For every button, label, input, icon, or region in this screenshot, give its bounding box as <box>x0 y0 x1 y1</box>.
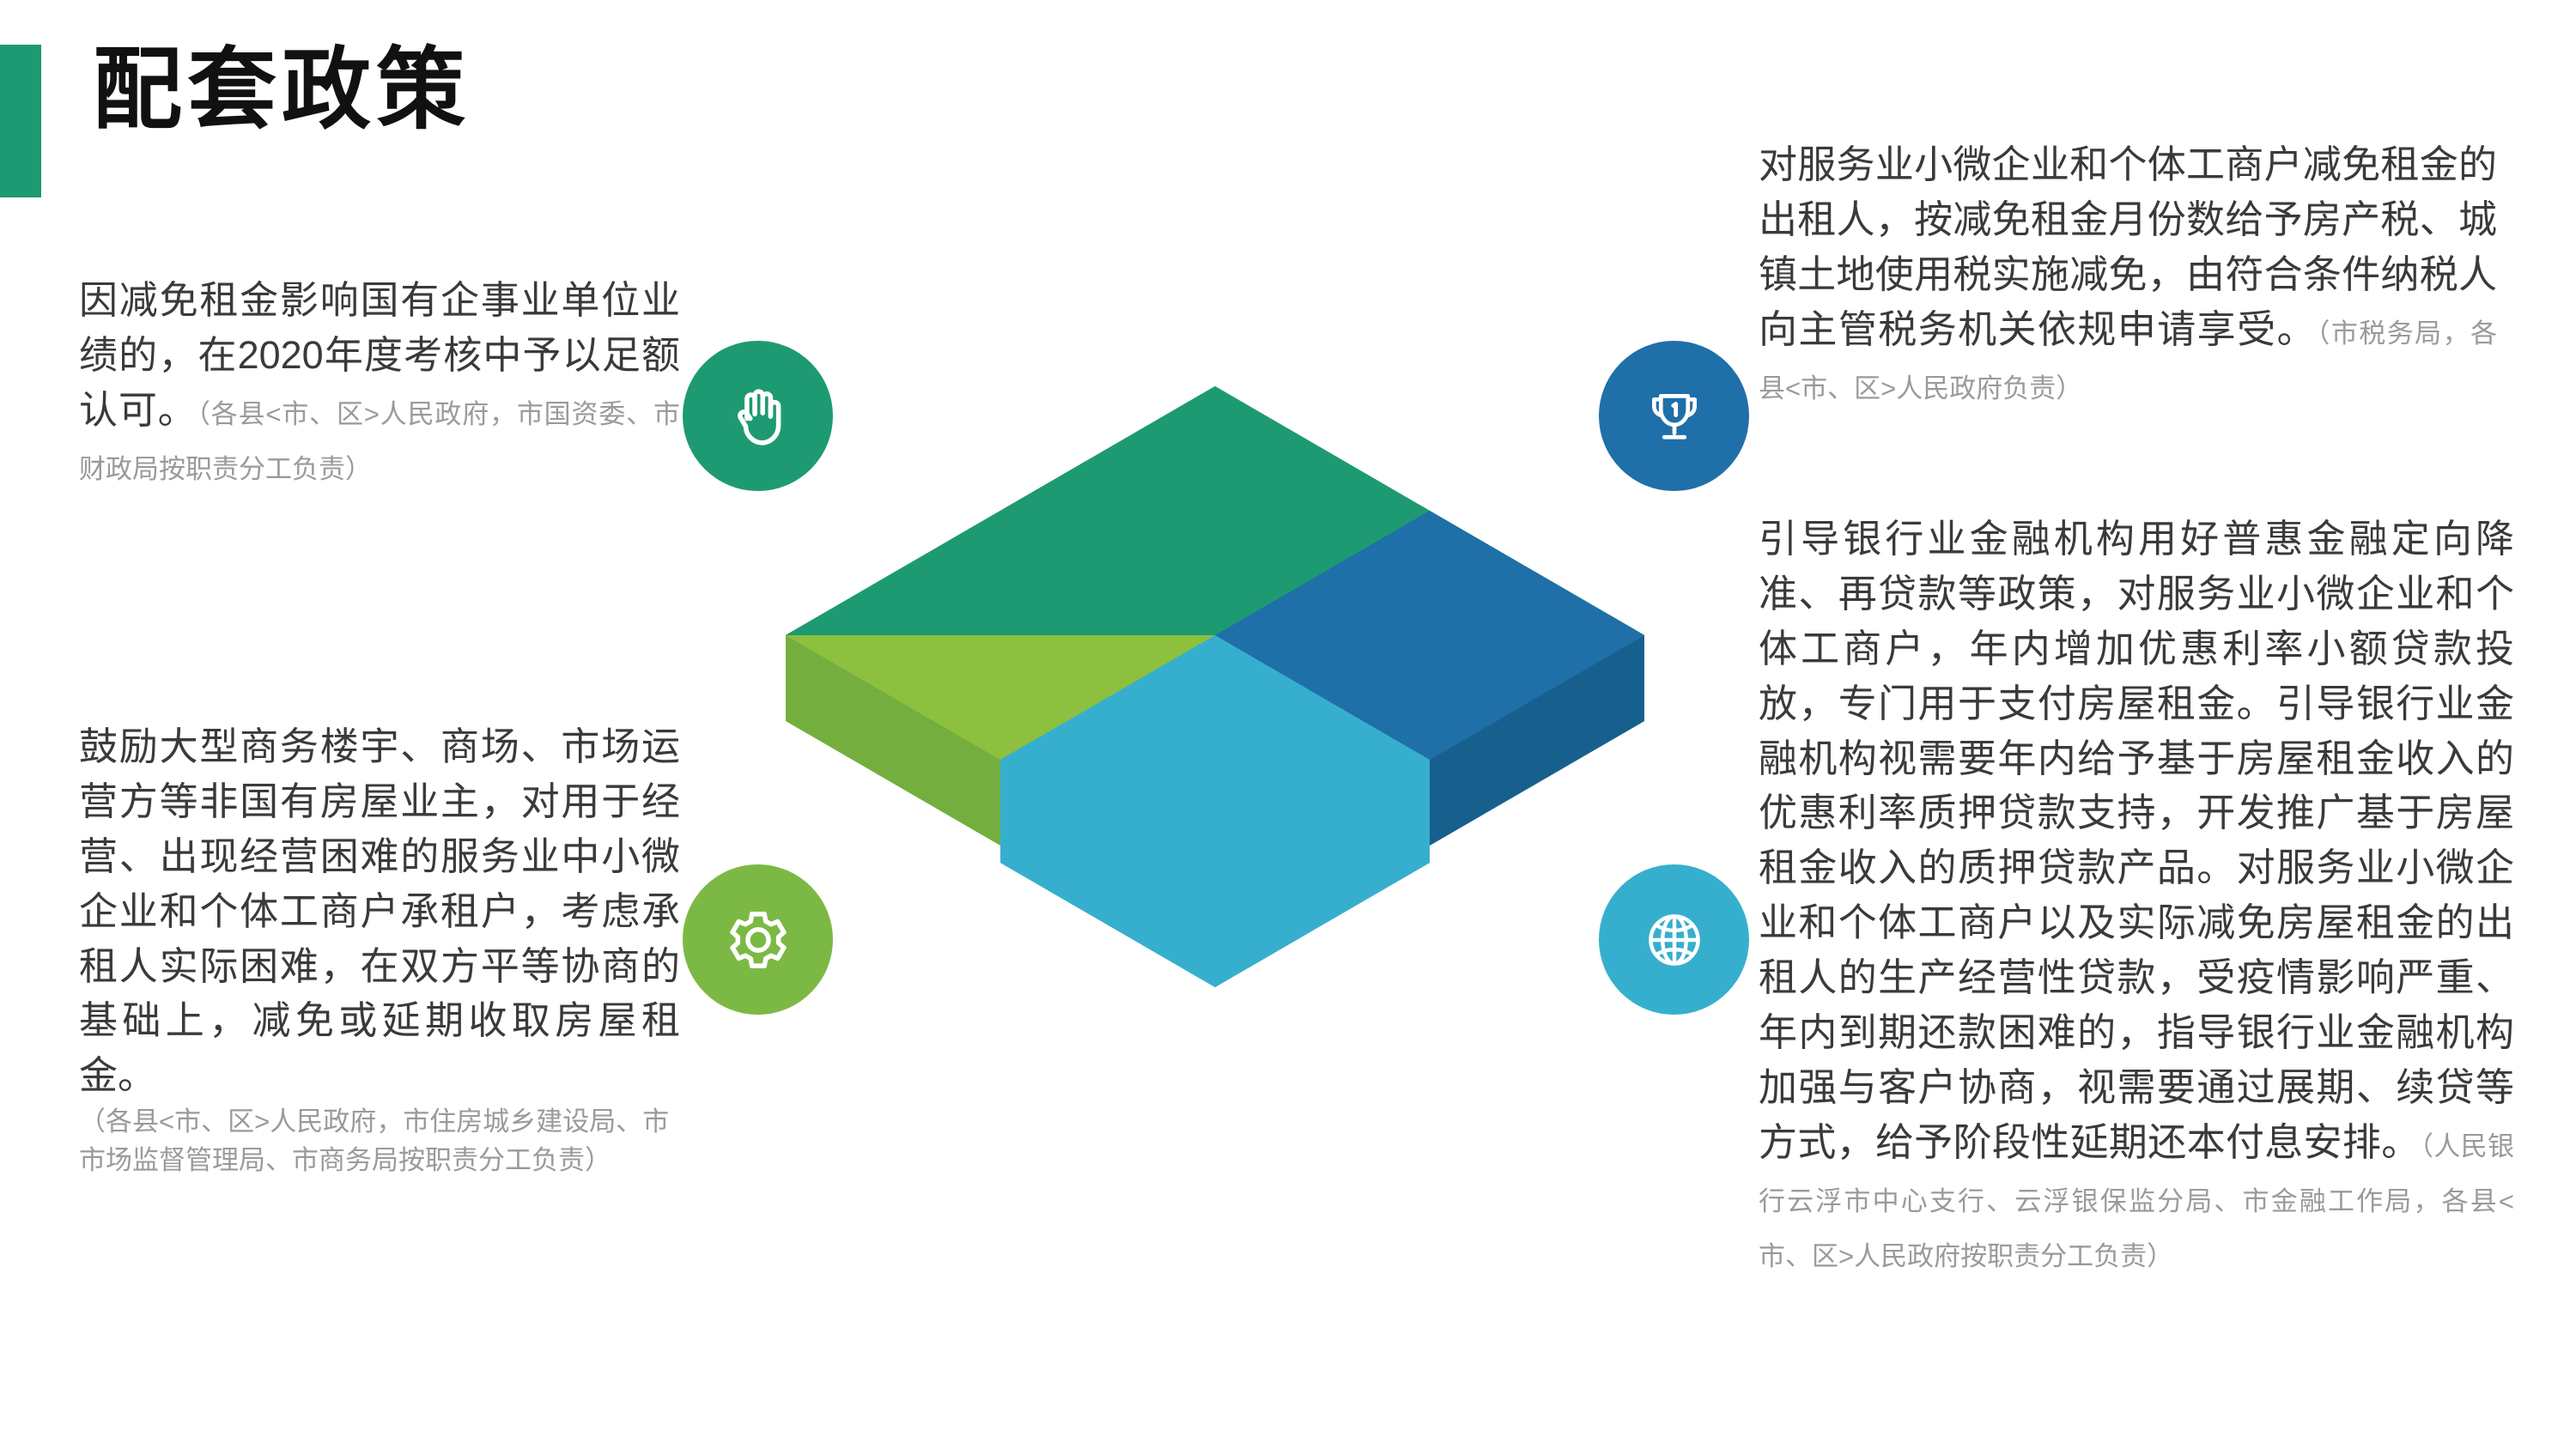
trophy-icon <box>1638 380 1710 452</box>
title-accent-bar <box>0 45 41 197</box>
gear-icon <box>722 904 794 976</box>
hand-icon <box>722 380 794 452</box>
policy-block-top-right: 对服务业小微企业和个体工商户减免租金的出租人，按减免租金月份数给予房产税、城镇土… <box>1759 137 2497 411</box>
globe-icon-badge[interactable] <box>1599 864 1749 1015</box>
policy-body-top-right: 对服务业小微企业和个体工商户减免租金的出租人，按减免租金月份数给予房产税、城镇土… <box>1759 137 2497 411</box>
page-title: 配套政策 <box>93 39 471 142</box>
hand-icon-badge[interactable] <box>683 341 833 491</box>
gear-icon-badge[interactable] <box>683 864 833 1015</box>
policy-body-text: 引导银行业金融机构用好普惠金融定向降准、再贷款等政策，对服务业小微企业和个体工商… <box>1759 517 2514 1164</box>
trophy-icon-badge[interactable] <box>1599 341 1749 491</box>
policy-body-top-left: 因减免租金影响国有企事业单位业绩的，在2020年度考核中予以足额认可。（各县<市… <box>79 273 680 493</box>
policy-body-bottom-left: 鼓励大型商务楼宇、商场、市场运营方等非国有房屋业主，对用于经营、出现经营困难的服… <box>79 719 680 1103</box>
policy-note-bottom-left: （各县<市、区>人民政府，市住房城乡建设局、市市场监督管理局、市商务局按职责分工… <box>79 1103 680 1180</box>
policy-block-bottom-left: 鼓励大型商务楼宇、商场、市场运营方等非国有房屋业主，对用于经营、出现经营困难的服… <box>79 719 680 1180</box>
policy-block-top-left: 因减免租金影响国有企事业单位业绩的，在2020年度考核中予以足额认可。（各县<市… <box>79 273 680 493</box>
globe-icon <box>1638 904 1710 976</box>
isometric-quadrant-diagram <box>713 292 1717 1047</box>
policy-block-bottom-right: 引导银行业金融机构用好普惠金融定向降准、再贷款等政策，对服务业小微企业和个体工商… <box>1759 512 2514 1279</box>
policy-body-bottom-right: 引导银行业金融机构用好普惠金融定向降准、再贷款等政策，对服务业小微企业和个体工商… <box>1759 512 2514 1279</box>
